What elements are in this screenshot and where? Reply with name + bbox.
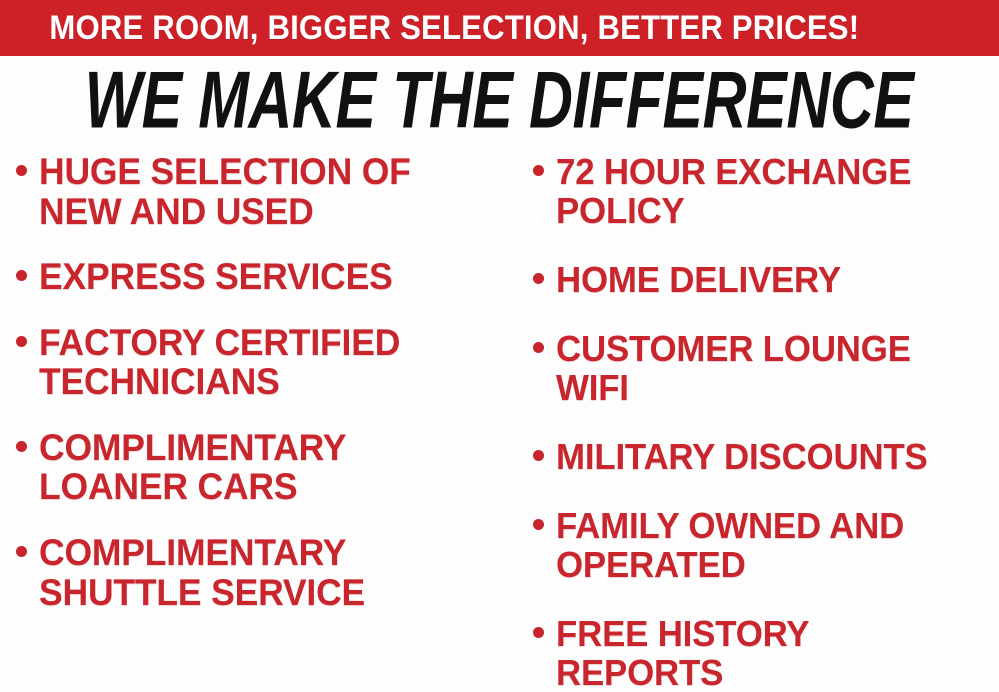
list-item: COMPLIMENTARY SHUTTLE SERVICE <box>16 533 513 612</box>
bullet-dot-icon <box>533 342 544 353</box>
list-item: 72 HOUR EXCHANGE POLICY <box>533 152 999 230</box>
list-item-label: EXPRESS SERVICES <box>39 257 393 297</box>
list-item-label: FACTORY CERTIFIED TECHNICIANS <box>39 323 494 402</box>
promo-banner: MORE ROOM, BIGGER SELECTION, BETTER PRIC… <box>0 0 999 56</box>
bullet-dot-icon <box>533 165 544 176</box>
list-item: FAMILY OWNED AND OPERATED <box>533 506 999 584</box>
bullet-dot-icon <box>16 336 27 347</box>
list-item-label: MILITARY DISCOUNTS <box>556 437 928 476</box>
list-item-label: FREE HISTORY REPORTS <box>556 614 979 692</box>
list-item: MILITARY DISCOUNTS <box>533 437 999 476</box>
list-item: FREE HISTORY REPORTS <box>533 614 999 692</box>
list-item: HUGE SELECTION OF NEW AND USED <box>16 152 513 231</box>
list-item: HOME DELIVERY <box>533 260 999 299</box>
list-item: COMPLIMENTARY LOANER CARS <box>16 428 513 507</box>
headline: WE MAKE THE DIFFERENCE <box>0 62 999 140</box>
advertisement-banner: MORE ROOM, BIGGER SELECTION, BETTER PRIC… <box>0 0 999 692</box>
list-item: CUSTOMER LOUNGE WIFI <box>533 329 999 407</box>
list-item-label: FAMILY OWNED AND OPERATED <box>556 506 979 584</box>
list-item-label: HOME DELIVERY <box>556 260 841 299</box>
bullet-dot-icon <box>16 270 27 281</box>
feature-column-left: HUGE SELECTION OF NEW AND USED EXPRESS S… <box>0 152 513 638</box>
bullet-dot-icon <box>533 450 544 461</box>
bullet-dot-icon <box>16 441 27 452</box>
list-item-label: COMPLIMENTARY LOANER CARS <box>39 428 494 507</box>
list-item-label: COMPLIMENTARY SHUTTLE SERVICE <box>39 533 494 612</box>
feature-columns: HUGE SELECTION OF NEW AND USED EXPRESS S… <box>0 152 999 692</box>
bullet-dot-icon <box>16 165 27 176</box>
list-item-label: HUGE SELECTION OF NEW AND USED <box>39 152 494 231</box>
bullet-dot-icon <box>533 627 544 638</box>
promo-banner-text: MORE ROOM, BIGGER SELECTION, BETTER PRIC… <box>0 11 859 45</box>
feature-column-right: 72 HOUR EXCHANGE POLICY HOME DELIVERY CU… <box>513 152 999 692</box>
bullet-dot-icon <box>16 546 27 557</box>
bullet-dot-icon <box>533 273 544 284</box>
bullet-dot-icon <box>533 519 544 530</box>
list-item: EXPRESS SERVICES <box>16 257 513 297</box>
list-item-label: 72 HOUR EXCHANGE POLICY <box>556 152 979 230</box>
list-item-label: CUSTOMER LOUNGE WIFI <box>556 329 979 407</box>
headline-text: WE MAKE THE DIFFERENCE <box>85 61 914 142</box>
list-item: FACTORY CERTIFIED TECHNICIANS <box>16 323 513 402</box>
